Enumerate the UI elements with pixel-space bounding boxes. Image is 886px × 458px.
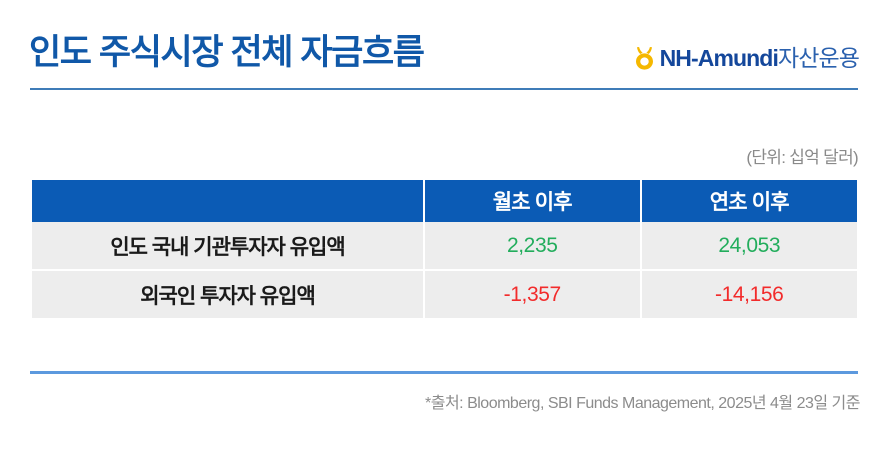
value-foreign-investor-ytd: -14,156 (641, 270, 858, 318)
table-row: 인도 국내 기관투자자 유입액 2,235 24,053 (32, 222, 857, 270)
page-title: 인도 주식시장 전체 자금흐름 (29, 24, 424, 75)
row-label-foreign-investor: 외국인 투자자 유입액 (32, 270, 424, 318)
table-row: 외국인 투자자 유입액 -1,357 -14,156 (32, 270, 857, 318)
column-header-mtd: 월초 이후 (424, 180, 641, 222)
brand-text: NH-Amundi자산운용 (660, 47, 859, 70)
header-divider (30, 88, 858, 90)
table-header: 월초 이후 연초 이후 (32, 180, 857, 222)
source-note: *출처: Bloomberg, SBI Funds Management, 20… (425, 389, 860, 413)
row-label-domestic-institutional: 인도 국내 기관투자자 유입액 (32, 222, 424, 270)
footer-divider (30, 371, 858, 374)
nh-amundi-logo-mark-icon (634, 46, 655, 70)
infographic-page: 인도 주식시장 전체 자금흐름 NH-Amundi자산운용 (단위: 십억 달러… (0, 0, 886, 458)
table-header-row: 월초 이후 연초 이후 (32, 180, 857, 222)
value-domestic-institutional-ytd: 24,053 (641, 222, 858, 270)
fund-flow-table: 월초 이후 연초 이후 인도 국내 기관투자자 유입액 2,235 24,053… (32, 180, 857, 318)
brand-logo: NH-Amundi자산운용 (634, 46, 859, 70)
column-header-ytd: 연초 이후 (641, 180, 858, 222)
brand-name-en: NH-Amundi (660, 45, 778, 71)
header: 인도 주식시장 전체 자금흐름 NH-Amundi자산운용 (0, 0, 886, 90)
value-domestic-institutional-mtd: 2,235 (424, 222, 641, 270)
brand-name-ko: 자산운용 (778, 45, 859, 71)
table-body: 인도 국내 기관투자자 유입액 2,235 24,053 외국인 투자자 유입액… (32, 222, 857, 318)
column-header-label (32, 180, 424, 222)
value-foreign-investor-mtd: -1,357 (424, 270, 641, 318)
unit-note: (단위: 십억 달러) (746, 143, 858, 168)
